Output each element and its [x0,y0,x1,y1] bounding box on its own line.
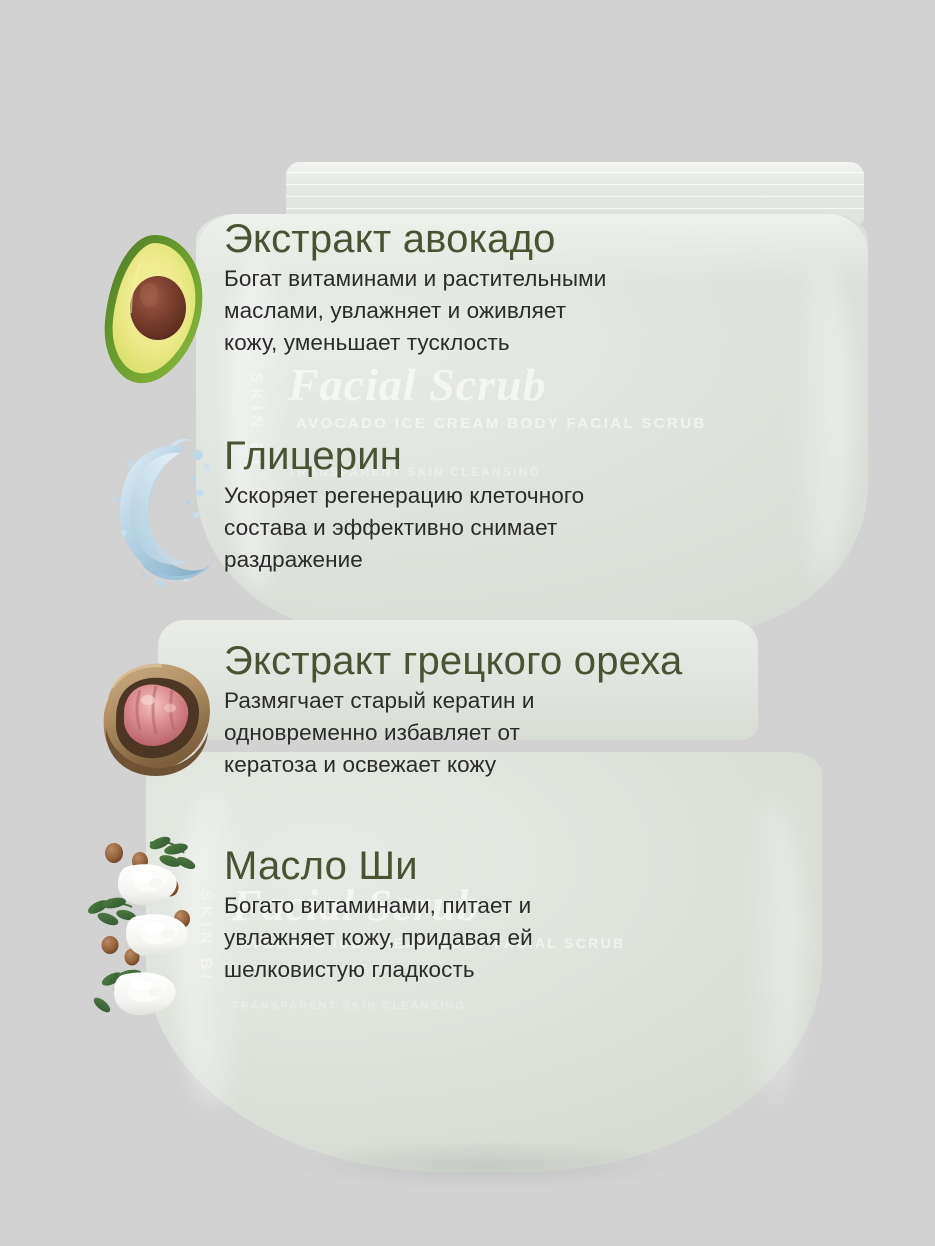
ingredient-description: Богат витаминами и растительными маслами… [224,260,606,359]
description-line: кожу, уменьшает тусклость [224,327,606,359]
description-line: кератоза и освежает кожу [224,749,682,781]
description-line: Размягчает старый кератин и [224,685,682,717]
walnut-icon [96,658,218,788]
avocado-half-icon [101,233,209,388]
ingredient-title: Глицерин [224,435,584,477]
water-splash-icon [100,433,222,593]
description-line: одновременно избавляет от [224,717,682,749]
shea-text: Масло Ши Богато витаминами, питает и увл… [224,845,533,986]
description-line: шелковистую гладкость [224,954,533,986]
upper-jar-label-script: Facial Scrub [288,358,547,411]
ingredient-title: Экстракт грецкого ореха [224,640,682,682]
ingredient-title: Масло Ши [224,845,533,887]
description-line: Ускоряет регенерацию клеточного [224,480,584,512]
ingredient-description: Ускоряет регенерацию клеточного состава … [224,477,584,576]
jar-thread-line [286,196,864,197]
product-photo-background: SKIN BI Facial Scrub AVOCADO ICE CREAM B… [0,0,935,1246]
description-line: Богато витаминами, питает и [224,890,533,922]
shea-butter-icon [84,835,216,1020]
description-line: маслами, увлажняет и оживляет [224,295,606,327]
ingredient-description: Богато витаминами, питает и увлажняет ко… [224,887,533,986]
avocado-text: Экстракт авокадо Богат витаминами и раст… [224,218,606,359]
walnut-text: Экстракт грецкого ореха Размягчает стары… [224,640,682,781]
glycerin-text: Глицерин Ускоряет регенерацию клеточного… [224,435,584,576]
upper-jar-label-caps: AVOCADO ICE CREAM BODY FACIAL SCRUB [296,415,707,432]
jar-drop-shadow [200,1130,770,1200]
upper-jar-highlight-right [790,260,850,580]
lower-jar-highlight-right [742,800,802,1100]
ingredient-title: Экстракт авокадо [224,218,606,260]
jar-thread-line [286,172,864,173]
description-line: Богат витаминами и растительными [224,263,606,295]
jar-thread-line [286,208,864,209]
ingredient-description: Размягчает старый кератин и одновременно… [224,682,682,781]
lower-jar-label-tagline: TRANSPARENT SKIN CLEANSING [232,1000,466,1012]
description-line: раздражение [224,544,584,576]
description-line: состава и эффективно снимает [224,512,584,544]
description-line: увлажняет кожу, придавая ей [224,922,533,954]
jar-thread-line [286,184,864,185]
